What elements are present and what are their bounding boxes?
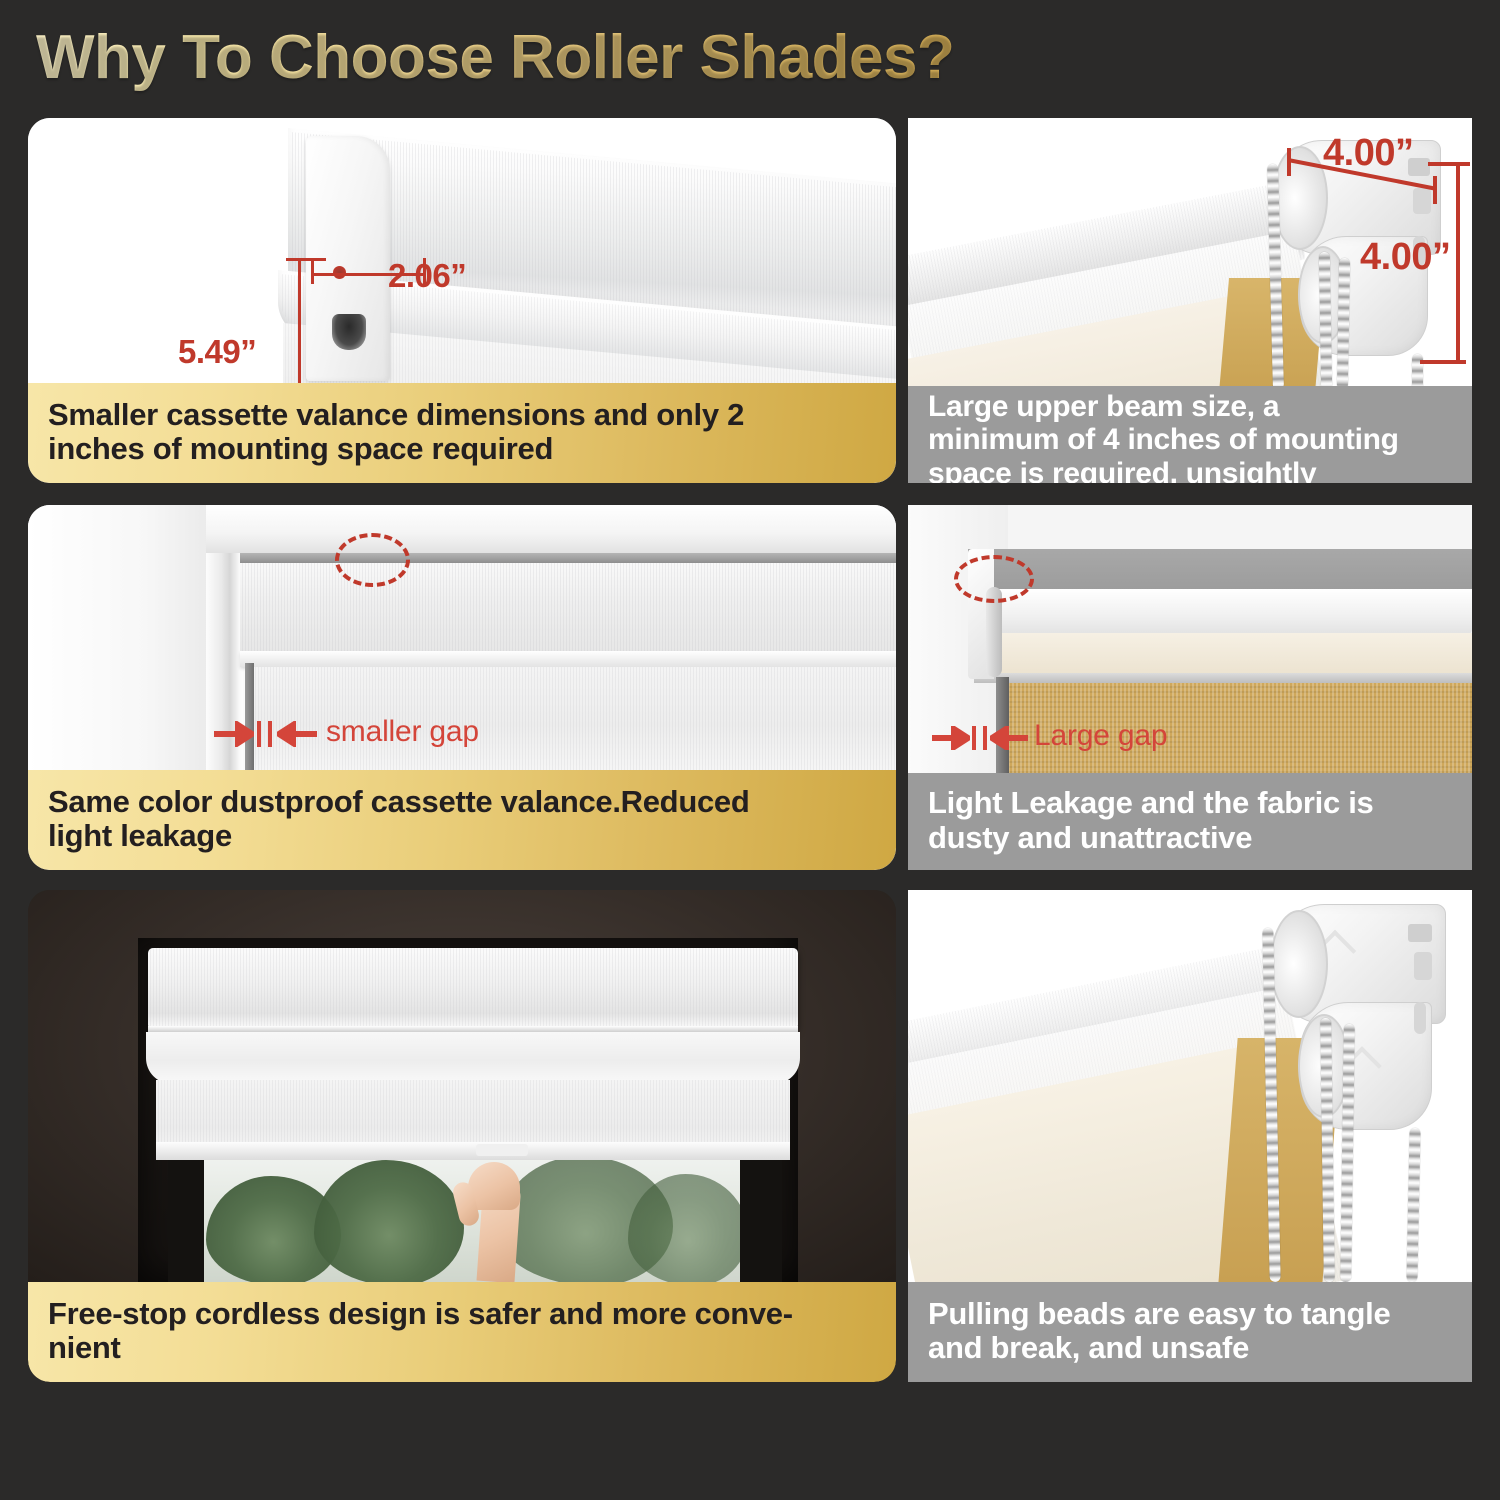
beam-cream-band <box>974 633 1472 675</box>
panel-bottom-right-caption-text: Pulling beads are easy to tangle and bre… <box>928 1297 1390 1366</box>
panel-bottom-left-caption: Free-stop cordless design is safer and m… <box>28 1282 896 1382</box>
panel-bottom-right-caption: Pulling beads are easy to tangle and bre… <box>908 1282 1472 1382</box>
height-dimension-label: 5.49” <box>178 333 256 371</box>
shade-roll-tube <box>146 1032 800 1084</box>
caption-line: dusty and unattractive <box>928 821 1373 855</box>
cassette-valance-texture <box>240 563 896 651</box>
arrow-right-icon <box>932 726 970 750</box>
bracket-height-tick-bottom <box>1420 360 1466 364</box>
bracket-slot-icon <box>1414 952 1432 980</box>
bracket-height-dimension-line <box>1456 162 1460 364</box>
shade-bottom-rail <box>156 1142 790 1160</box>
caption-line: nient <box>48 1331 793 1365</box>
highlight-circle <box>335 533 410 587</box>
shade-pull-tab <box>476 1144 528 1156</box>
upper-beam-shadow <box>968 549 1472 591</box>
bracket-height-tick-top <box>1428 162 1470 166</box>
infographic-root: Why To Choose Roller Shades? <box>0 0 1500 1500</box>
bracket-slot-icon <box>1413 188 1431 214</box>
gap-marker-bar <box>972 726 976 750</box>
caption-line: light leakage <box>48 819 749 853</box>
panel-top-left-photo: 2.06” 5.49” <box>28 118 896 388</box>
bracket-width-tick-right <box>1433 176 1437 204</box>
panel-middle-left-caption: Same color dustproof cassette valance.Re… <box>28 770 896 870</box>
window-frame-top <box>206 505 896 553</box>
caption-line: Same color dustproof cassette valance.Re… <box>48 785 749 819</box>
bead-chain <box>1406 1128 1420 1282</box>
panel-middle-left: smaller gap Same color dustproof cassett… <box>28 505 896 870</box>
panel-middle-right-caption-text: Light Leakage and the fabric is dusty an… <box>928 786 1373 855</box>
caption-line: Large upper beam size, a <box>928 390 1399 423</box>
arrow-left-icon <box>277 721 317 747</box>
bracket-width-tick-left <box>1287 148 1291 176</box>
panel-top-right: 4.00” 4.00” Large upper beam size, a min… <box>908 118 1472 483</box>
panel-bottom-left: Free-stop cordless design is safer and m… <box>28 890 896 1382</box>
gap-marker-bar <box>268 721 272 747</box>
caption-line: space is required, unsightly <box>928 457 1399 483</box>
caption-line: Smaller cassette valance dimensions and … <box>48 398 744 432</box>
width-dimension-label: 2.06” <box>388 257 466 295</box>
panel-top-left-caption-text: Smaller cassette valance dimensions and … <box>48 398 744 467</box>
caption-line: minimum of 4 inches of mounting <box>928 423 1399 456</box>
panel-middle-right-caption: Light Leakage and the fabric is dusty an… <box>908 773 1472 870</box>
panel-bottom-right: Pulling beads are easy to tangle and bre… <box>908 890 1472 1382</box>
panel-top-right-caption: Large upper beam size, a minimum of 4 in… <box>908 386 1472 483</box>
valance-lower-lip <box>240 651 896 667</box>
caption-line: and break, and unsafe <box>928 1331 1390 1365</box>
height-dimension-line <box>298 258 301 388</box>
window-mullion <box>740 1148 782 1282</box>
panel-top-right-caption-text: Large upper beam size, a minimum of 4 in… <box>928 390 1399 483</box>
end-cap-slot-icon <box>332 314 366 350</box>
window-mullion <box>168 1148 204 1282</box>
bracket-slot-icon <box>1414 1002 1426 1034</box>
gap-marker-bar <box>257 721 261 747</box>
caption-line: inches of mounting space required <box>48 432 744 466</box>
bracket-height-dimension-label: 4.00” <box>1360 236 1450 279</box>
page-title: Why To Choose Roller Shades? <box>36 22 954 93</box>
panel-top-left: 2.06” 5.49” Smaller cassette valance dim… <box>28 118 896 483</box>
highlight-ellipse <box>954 555 1034 603</box>
shade-headrail-texture <box>148 948 798 1030</box>
roller-end-disc <box>1270 910 1328 1018</box>
panel-middle-right: Large gap Light Leakage and the fabric i… <box>908 505 1472 870</box>
height-dimension-tick-top <box>286 258 326 261</box>
caption-line: Pulling beads are easy to tangle <box>928 1297 1390 1331</box>
beam-bottom-edge <box>974 673 1472 683</box>
bead-chain <box>1337 258 1350 390</box>
panel-bottom-left-photo <box>28 890 896 1282</box>
caption-line: Free-stop cordless design is safer and m… <box>48 1297 793 1331</box>
bracket-slot-icon <box>1408 924 1432 942</box>
panel-middle-left-caption-text: Same color dustproof cassette valance.Re… <box>48 785 749 854</box>
caption-line: Light Leakage and the fabric is <box>928 786 1373 820</box>
gap-marker-bar <box>983 726 987 750</box>
arrow-left-icon <box>990 726 1028 750</box>
width-dimension-tick-left <box>311 258 314 284</box>
gap-callout-label: smaller gap <box>326 715 479 749</box>
arrow-right-icon <box>214 721 254 747</box>
gap-callout-label: Large gap <box>1034 719 1167 753</box>
bead-chain <box>1340 1024 1355 1282</box>
panel-bottom-right-photo <box>908 890 1472 1282</box>
bracket-width-dimension-label: 4.00” <box>1323 132 1413 175</box>
panel-top-left-caption: Smaller cassette valance dimensions and … <box>28 383 896 483</box>
gap-callout-group: smaller gap <box>214 717 473 751</box>
panel-bottom-left-caption-text: Free-stop cordless design is safer and m… <box>48 1297 793 1366</box>
gap-callout-group: Large gap <box>932 721 1161 755</box>
panel-top-right-photo: 4.00” 4.00” <box>908 118 1472 390</box>
upper-beam-face <box>970 589 1472 635</box>
